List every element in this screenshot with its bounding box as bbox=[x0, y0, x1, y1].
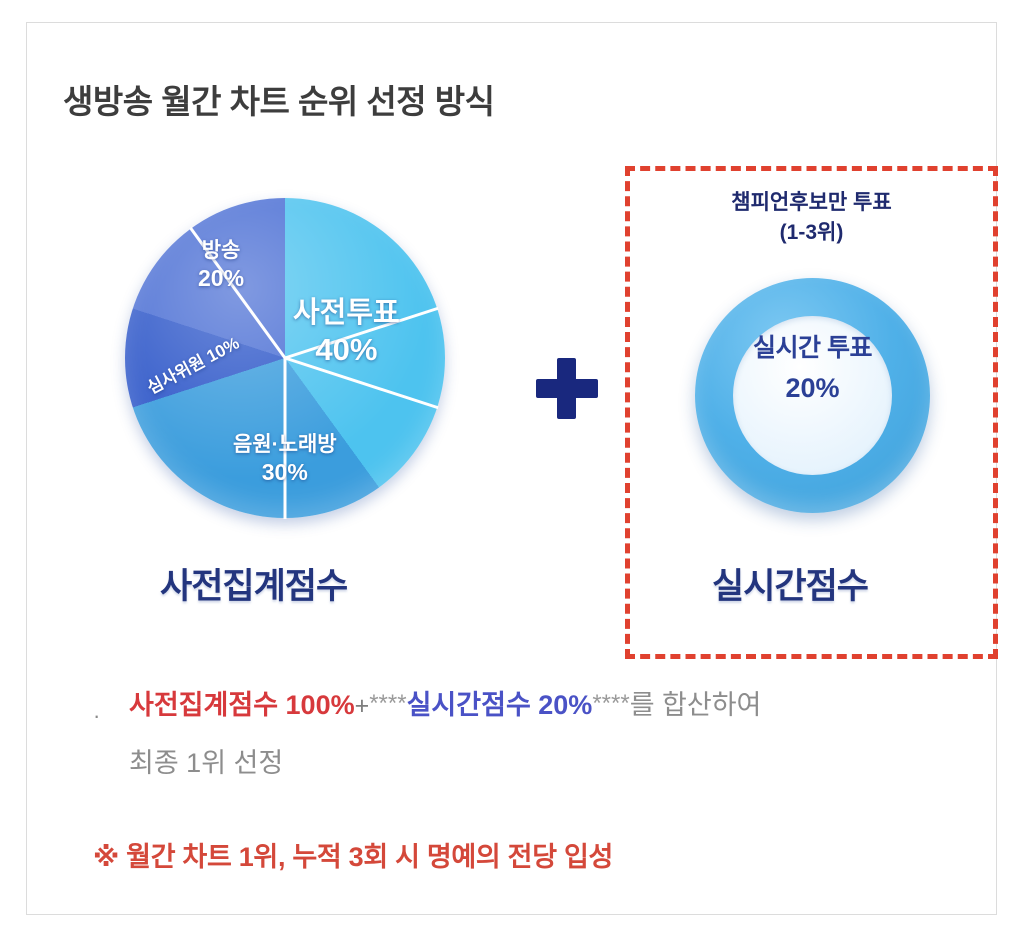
champion-note-line-1: 챔피언후보만 투표 bbox=[731, 191, 891, 214]
plus-icon bbox=[532, 353, 602, 423]
pie-slice-name-broadcast: 방송 bbox=[202, 239, 241, 262]
donut-label: 실시간 투표 bbox=[695, 330, 930, 368]
formula-plus: + bbox=[355, 692, 370, 720]
bullet-dot-icon: · bbox=[93, 705, 100, 727]
realtime-score-label: 실시간점수 bbox=[712, 558, 868, 609]
pie-slice-label-broadcast: 방송 20% bbox=[198, 238, 244, 292]
formula-bullet-block: · 사전집계점수 100%+****실시간점수 20%****를 합산하여 최종… bbox=[93, 691, 993, 780]
pie-slice-label-music: 음원·노래방 30% bbox=[233, 432, 337, 486]
realtime-vote-donut-chart: 실시간 투표 20% bbox=[695, 278, 930, 513]
plus-icon-vertical-bar bbox=[557, 358, 576, 419]
pie-slice-value-broadcast: 20% bbox=[198, 264, 244, 292]
pie-slice-label-prevote: 사전투표 40% bbox=[293, 296, 400, 369]
formula-realtime-score: 실시간점수 20% bbox=[407, 690, 593, 720]
formula-line: 사전집계점수 100%+****실시간점수 20%****를 합산하여 bbox=[129, 691, 993, 719]
formula-stars-open: **** bbox=[369, 690, 406, 717]
donut-value: 20% bbox=[695, 368, 930, 409]
pie-slice-value-prevote: 40% bbox=[293, 331, 400, 369]
formula-tail: 를 합산하여 bbox=[630, 690, 762, 720]
formula-stars-close: **** bbox=[592, 690, 629, 717]
pie-slice-name-prevote: 사전투표 bbox=[293, 297, 400, 329]
hall-of-fame-note: ※ 월간 차트 1위, 누적 3회 시 명예의 전당 입성 bbox=[93, 835, 613, 874]
page-title: 생방송 월간 차트 순위 선정 방식 bbox=[63, 75, 495, 123]
formula-line-2: 최종 1위 선정 bbox=[129, 741, 993, 780]
formula-pre-score: 사전집계점수 100% bbox=[129, 690, 355, 720]
champion-note-line-2: (1-3위) bbox=[780, 221, 844, 244]
pie-slice-name-music: 음원·노래방 bbox=[233, 433, 337, 456]
pre-aggregate-pie-chart: 방송 20% 심사위원 10% 음원·노래방 30% 사전투표 40% bbox=[105, 178, 465, 538]
champion-candidate-note: 챔피언후보만 투표 (1-3위) bbox=[625, 188, 998, 249]
donut-center-text: 실시간 투표 20% bbox=[695, 330, 930, 408]
page-root: 생방송 월간 차트 순위 선정 방식 방송 20% 심사위원 10% 음원·노래… bbox=[0, 0, 1024, 937]
pre-aggregate-score-label: 사전집계점수 bbox=[160, 558, 347, 609]
pie-slice-value-music: 30% bbox=[233, 458, 337, 486]
info-card: 생방송 월간 차트 순위 선정 방식 방송 20% 심사위원 10% 음원·노래… bbox=[26, 22, 997, 915]
